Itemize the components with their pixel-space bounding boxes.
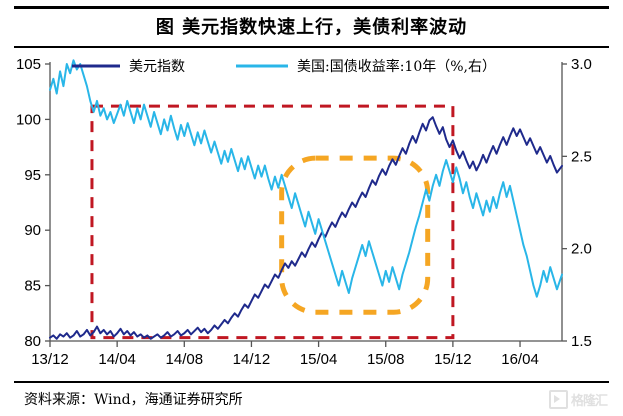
y-tick-label-left: 95 (24, 167, 41, 184)
legend-label-1: 美国:国债收益率:10年（%,右） (297, 58, 496, 75)
y-tick-label-left: 80 (24, 333, 41, 350)
chart-page: 图 美元指数快速上行，美债利率波动 808590951001051.52.02.… (0, 0, 623, 416)
legend-label-0: 美元指数 (129, 59, 185, 75)
y-tick-label-right: 2.0 (571, 241, 592, 258)
x-tick-label: 13/12 (31, 351, 69, 368)
watermark-label: 格隆汇 (571, 390, 607, 409)
source-note: 资料来源：Wind，海通证券研究所 (24, 389, 243, 409)
x-tick-label: 15/04 (300, 351, 338, 368)
page-title: 图 美元指数快速上行，美债利率波动 (14, 12, 609, 44)
y-tick-label-left: 100 (16, 111, 41, 128)
chart-canvas: 808590951001051.52.02.53.013/1214/0414/0… (0, 48, 623, 378)
y-tick-label-left: 105 (16, 56, 41, 73)
title-top-rule (14, 6, 609, 9)
y-tick-label-right: 2.5 (571, 148, 592, 165)
watermark-logo-icon (549, 390, 568, 409)
x-tick-label: 16/04 (501, 351, 539, 368)
x-tick-label: 15/12 (434, 351, 472, 368)
series-line-yield (50, 60, 562, 296)
red-dashed-box (92, 106, 453, 338)
footer-rule (14, 381, 609, 383)
y-tick-label-right: 3.0 (571, 56, 592, 73)
series-line-usd-index (50, 117, 562, 339)
watermark: 格隆汇 (549, 390, 607, 409)
y-tick-label-left: 85 (24, 278, 41, 295)
y-tick-label-left: 90 (24, 222, 41, 239)
orange-dashed-box (282, 158, 428, 312)
y-tick-label-right: 1.5 (571, 333, 592, 350)
x-tick-label: 14/08 (166, 351, 204, 368)
x-tick-label: 14/04 (98, 351, 136, 368)
x-tick-label: 15/08 (367, 351, 405, 368)
x-tick-label: 14/12 (233, 351, 271, 368)
